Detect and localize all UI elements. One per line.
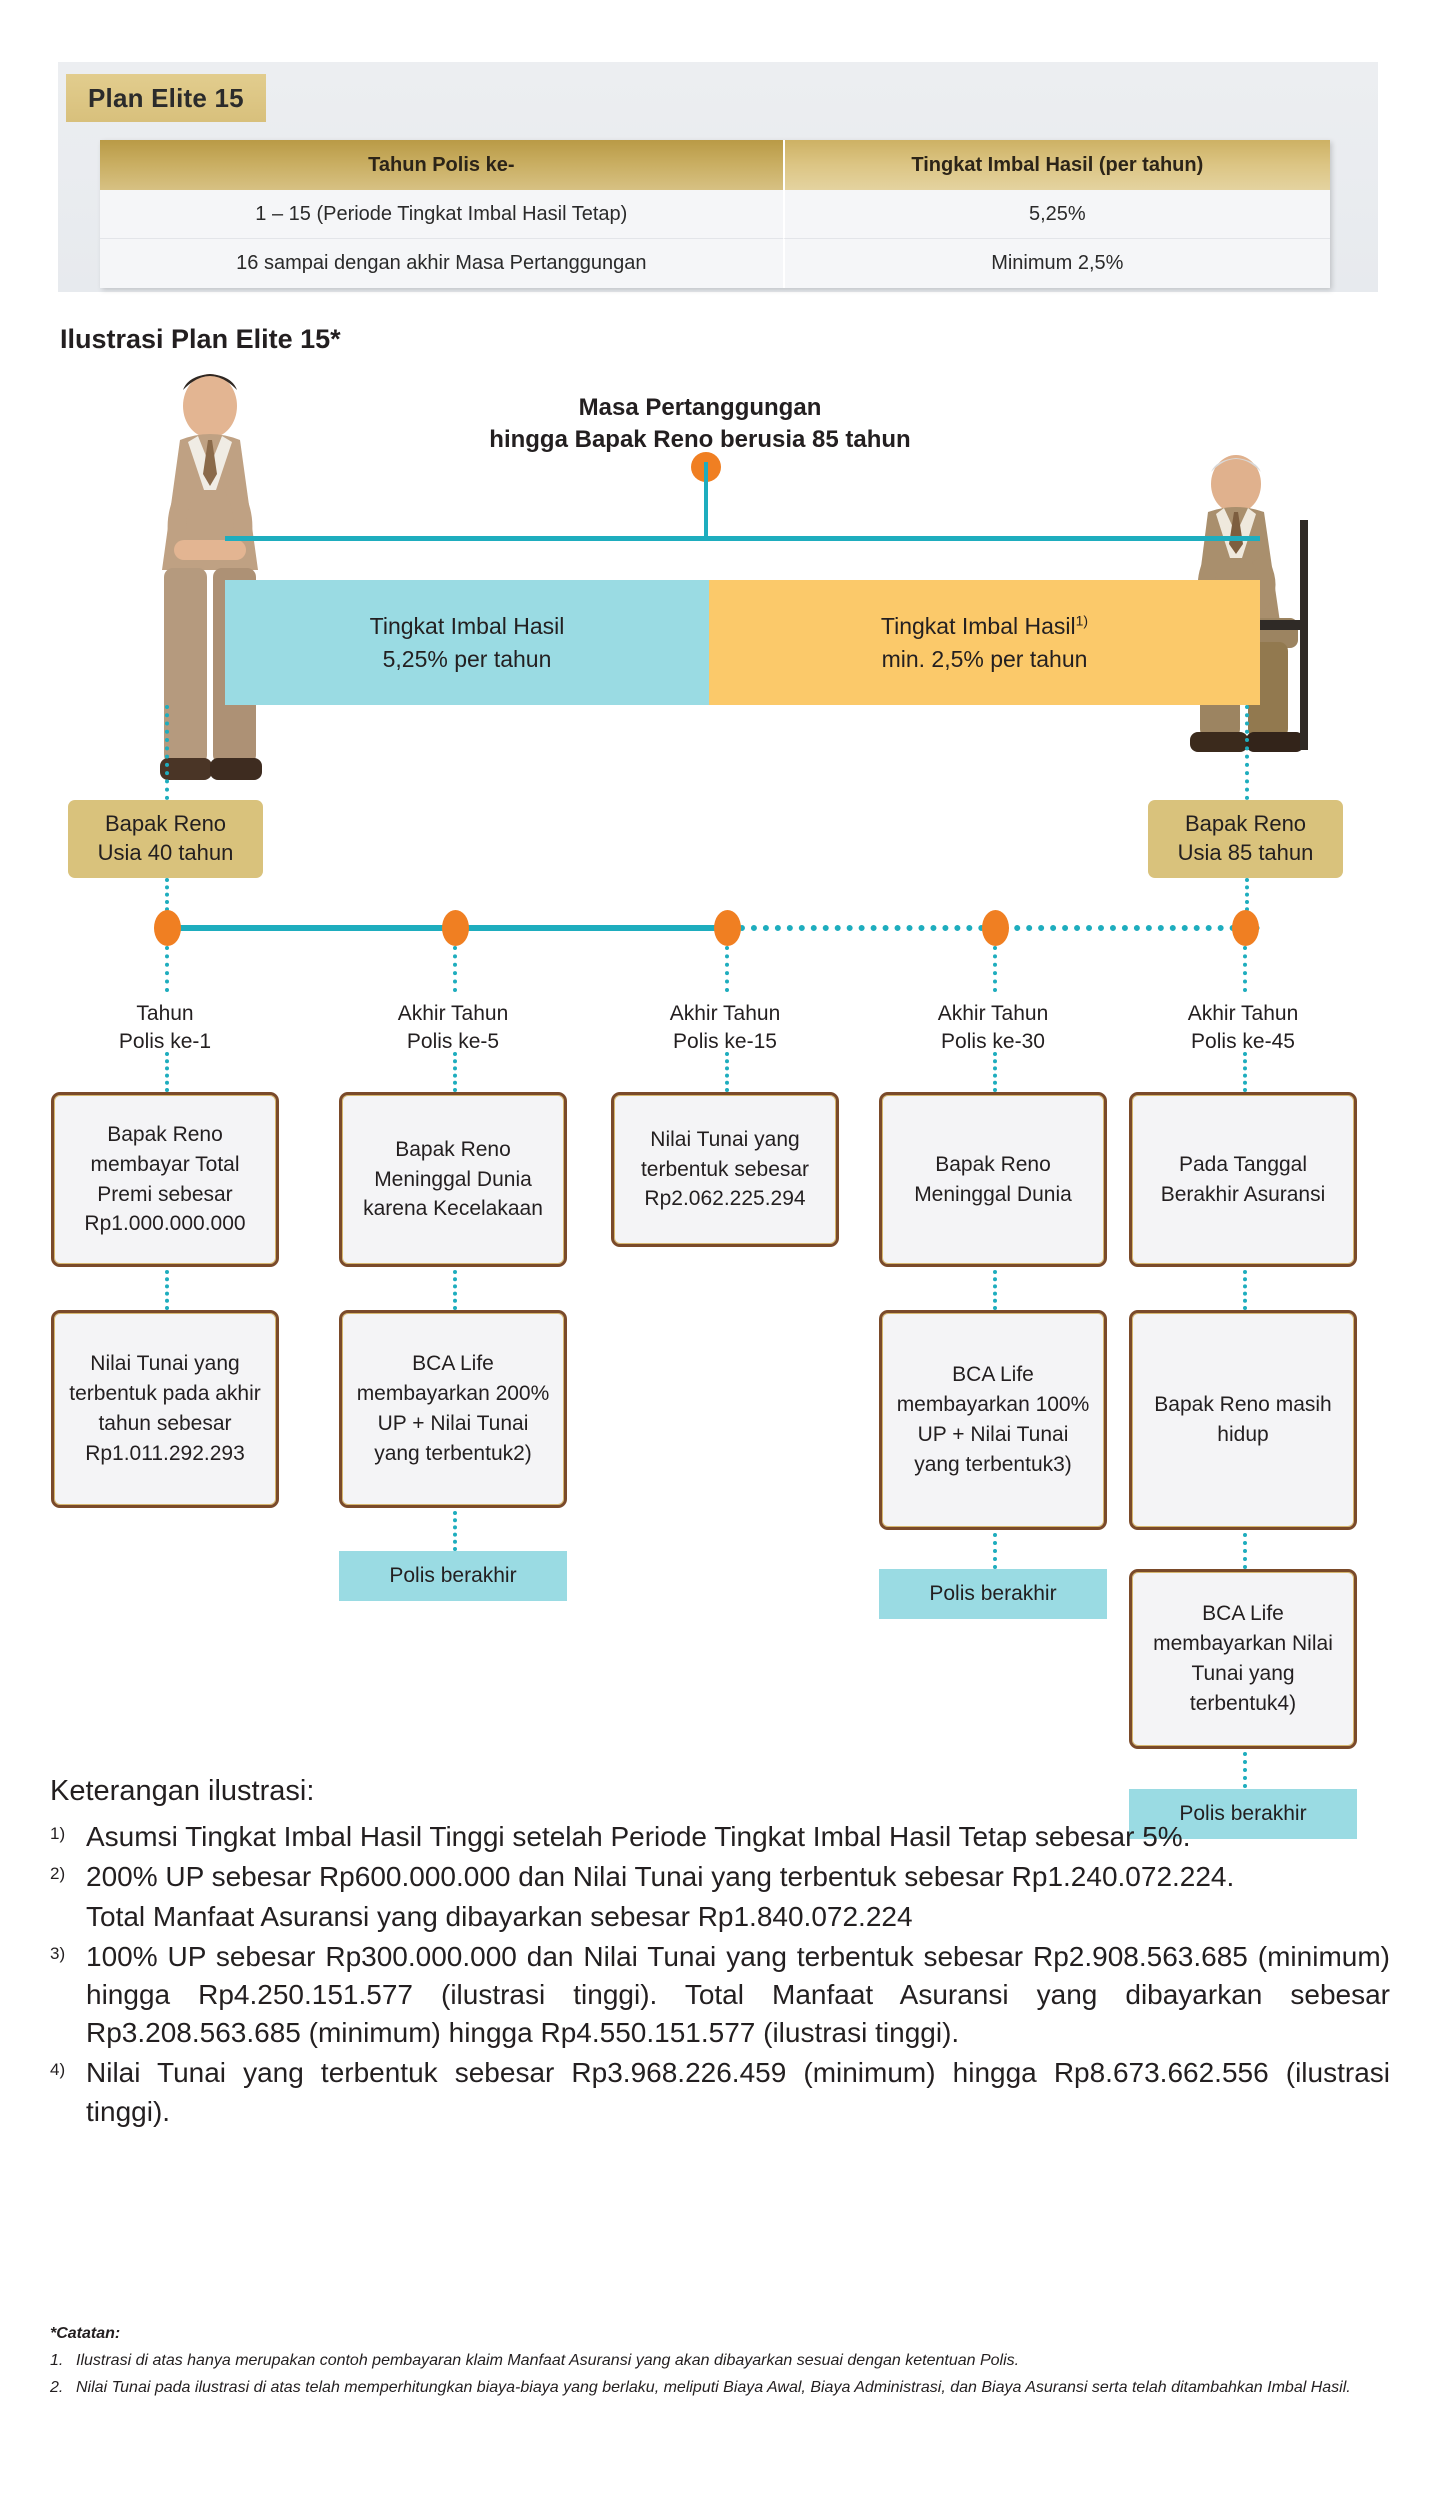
connector-box2-pill-col2: [453, 1511, 457, 1551]
box-payout-cash-value: BCA Life membayarkan Nilai Tunai yang te…: [1129, 1569, 1357, 1749]
connector-node-45: [1243, 946, 1247, 992]
node-label-year-30: Akhir Tahun Polis ke-30: [878, 1000, 1108, 1057]
box-cash-value-year15: Nilai Tunai yang terbentuk sebesar Rp2.0…: [611, 1092, 839, 1247]
box-death-accident: Bapak Reno Meninggal Dunia karena Kecela…: [339, 1092, 567, 1267]
band-fixed-rate: Tingkat Imbal Hasil 5,25% per tahun: [225, 580, 709, 705]
note-text: Asumsi Tingkat Imbal Hasil Tinggi setela…: [86, 1818, 1390, 1856]
note-marker: 4): [50, 2054, 86, 2130]
node-label-line1: Akhir Tahun: [938, 1002, 1049, 1025]
band-left-line2: 5,25% per tahun: [383, 646, 552, 672]
note-marker: [50, 1898, 86, 1936]
note-marker: 3): [50, 1938, 86, 2052]
footnote-section: *Catatan: 1. Ilustrasi di atas hanya mer…: [50, 2325, 1390, 2403]
node-label-line2: Polis ke-15: [673, 1030, 777, 1053]
node-label-line1: Akhir Tahun: [398, 1002, 509, 1025]
note-text: Nilai Tunai yang terbentuk sebesar Rp3.9…: [86, 2054, 1390, 2130]
node-label-line2: Polis ke-1: [119, 1030, 211, 1053]
note-item: 1) Asumsi Tingkat Imbal Hasil Tinggi set…: [50, 1818, 1390, 1856]
box-premium-paid: Bapak Reno membayar Total Premi sebesar …: [51, 1092, 279, 1267]
timeline-node-year-30: [982, 910, 1009, 946]
node-label-line2: Polis ke-30: [941, 1030, 1045, 1053]
note-text: Total Manfaat Asuransi yang dibayarkan s…: [86, 1898, 1390, 1936]
band-left-line1: Tingkat Imbal Hasil: [370, 613, 565, 639]
connector-label-box-1: [165, 1052, 169, 1092]
connector-node-30: [993, 946, 997, 992]
band-right-line1: Tingkat Imbal Hasil: [881, 613, 1076, 639]
connector-box1-box2-col5: [1243, 1270, 1247, 1310]
footnote-marker: 1.: [50, 2349, 76, 2372]
age-badge-start: Bapak Reno Usia 40 tahun: [68, 800, 263, 878]
box-end-of-insurance: Pada Tanggal Berakhir Asuransi: [1129, 1092, 1357, 1267]
note-item: 3) 100% UP sebesar Rp300.000.000 dan Nil…: [50, 1938, 1390, 2052]
connector-label-box-30: [993, 1052, 997, 1092]
node-label-year-15: Akhir Tahun Polis ke-15: [610, 1000, 840, 1057]
connector-badge-end: [1245, 705, 1249, 800]
age-badge-start-line2: Usia 40 tahun: [98, 839, 234, 868]
box-cash-value-year1: Nilai Tunai yang terbentuk pada akhir ta…: [51, 1310, 279, 1508]
pill-policy-end-col4: Polis berakhir: [879, 1569, 1107, 1619]
connector-box1-box2-col1: [165, 1270, 169, 1310]
box-payout-100-up: BCA Life membayarkan 100% UP + Nilai Tun…: [879, 1310, 1107, 1530]
note-item-continuation: Total Manfaat Asuransi yang dibayarkan s…: [50, 1898, 1390, 1936]
connector-label-box-5: [453, 1052, 457, 1092]
node-label-line1: Tahun: [136, 1002, 193, 1025]
connector-badge-start: [165, 705, 169, 800]
node-label-line1: Akhir Tahun: [670, 1002, 781, 1025]
connector-node-15: [725, 946, 729, 992]
node-label-year-45: Akhir Tahun Polis ke-45: [1128, 1000, 1358, 1057]
timeline-node-year-1: [154, 910, 181, 946]
connector-node-5: [453, 946, 457, 992]
band-right-footnote-marker: 1): [1076, 613, 1088, 629]
footnote-text: Ilustrasi di atas hanya merupakan contoh…: [76, 2349, 1390, 2372]
node-label-line2: Polis ke-5: [407, 1030, 499, 1053]
footnote-item: 2. Nilai Tunai pada ilustrasi di atas te…: [50, 2376, 1390, 2399]
note-text: 100% UP sebesar Rp300.000.000 dan Nilai …: [86, 1938, 1390, 2052]
timeline-node-year-45: [1232, 910, 1259, 946]
notes-title: Keterangan ilustrasi:: [50, 1775, 1390, 1808]
note-item: 4) Nilai Tunai yang terbentuk sebesar Rp…: [50, 2054, 1390, 2130]
age-badge-end-line2: Usia 85 tahun: [1178, 839, 1314, 868]
coverage-label-line1: Masa Pertanggungan: [579, 394, 822, 421]
band-right-line2: min. 2,5% per tahun: [882, 646, 1088, 672]
note-text: 200% UP sebesar Rp600.000.000 dan Nilai …: [86, 1858, 1390, 1896]
connector-box2-pill-col4: [993, 1533, 997, 1569]
coverage-label-line2: hingga Bapak Reno berusia 85 tahun: [489, 426, 910, 453]
connector-label-box-15: [725, 1052, 729, 1092]
age-badge-end-line1: Bapak Reno: [1185, 810, 1306, 839]
node-label-year-1: Tahun Polis ke-1: [50, 1000, 280, 1057]
timeline-node-year-15: [714, 910, 741, 946]
age-badge-start-line1: Bapak Reno: [105, 810, 226, 839]
note-marker: 1): [50, 1818, 86, 1856]
note-marker: 2): [50, 1858, 86, 1896]
connector-box1-box2-col2: [453, 1270, 457, 1310]
illustration-diagram: Masa Pertanggungan hingga Bapak Reno ber…: [0, 0, 1430, 1720]
footnote-title: *Catatan:: [50, 2325, 1390, 2343]
connector-box2-box3-col5: [1243, 1533, 1247, 1569]
coverage-axis-drop-line: [704, 462, 708, 538]
node-label-year-5: Akhir Tahun Polis ke-5: [338, 1000, 568, 1057]
footnote-item: 1. Ilustrasi di atas hanya merupakan con…: [50, 2349, 1390, 2372]
connector-box1-box2-col4: [993, 1270, 997, 1310]
band-minimum-rate: Tingkat Imbal Hasil1) min. 2,5% per tahu…: [709, 580, 1260, 705]
coverage-axis-line: [225, 536, 1260, 541]
connector-label-box-45: [1243, 1052, 1247, 1092]
illustration-notes-section: Keterangan ilustrasi: 1) Asumsi Tingkat …: [50, 1775, 1390, 2133]
timeline-node-year-5: [442, 910, 469, 946]
box-still-alive: Bapak Reno masih hidup: [1129, 1310, 1357, 1530]
note-item: 2) 200% UP sebesar Rp600.000.000 dan Nil…: [50, 1858, 1390, 1896]
box-payout-200-up: BCA Life membayarkan 200% UP + Nilai Tun…: [339, 1310, 567, 1508]
coverage-period-label: Masa Pertanggungan hingga Bapak Reno ber…: [430, 392, 970, 457]
node-label-line1: Akhir Tahun: [1188, 1002, 1299, 1025]
connector-node-1: [165, 946, 169, 992]
node-label-line2: Polis ke-45: [1191, 1030, 1295, 1053]
footnote-text: Nilai Tunai pada ilustrasi di atas telah…: [76, 2376, 1390, 2399]
box-death-year30: Bapak Reno Meninggal Dunia: [879, 1092, 1107, 1267]
age-badge-end: Bapak Reno Usia 85 tahun: [1148, 800, 1343, 878]
footnote-marker: 2.: [50, 2376, 76, 2399]
pill-policy-end-col2: Polis berakhir: [339, 1551, 567, 1601]
